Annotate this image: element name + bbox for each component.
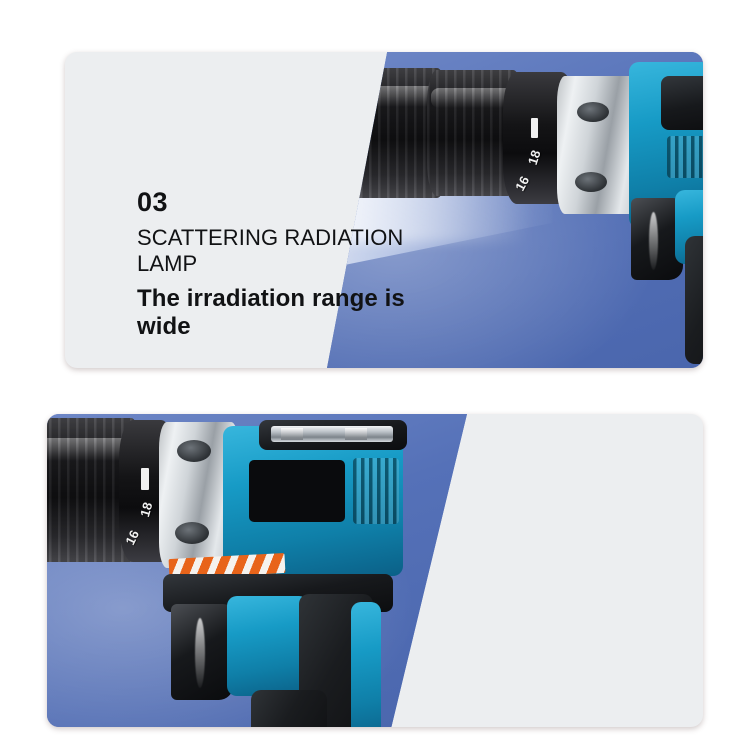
screwdriver-bit bbox=[271, 426, 393, 442]
drill-grip-lower bbox=[251, 690, 327, 727]
collar-number-18: 18 bbox=[137, 500, 155, 518]
panel-03-subtitle: The irradiation range is wide bbox=[137, 285, 437, 341]
housing-vent-upper bbox=[177, 440, 211, 462]
trigger-highlight bbox=[195, 618, 205, 688]
collar-tick-mark bbox=[141, 468, 149, 490]
panel-03-number: 03 bbox=[137, 188, 437, 216]
drill-grip-teal-trim bbox=[351, 602, 381, 727]
bit-segment-left bbox=[281, 428, 303, 440]
feature-panel-03: 18 16 03 SCATTERING RADIATION LAMP The i… bbox=[65, 52, 703, 368]
drill-body-fins bbox=[353, 458, 399, 524]
drill-body-fins bbox=[667, 136, 703, 178]
drill-chuck bbox=[297, 68, 447, 198]
feature-panel-04: 18 16 bbox=[47, 414, 703, 727]
collar-number-16: 16 bbox=[512, 174, 532, 194]
chuck-highlight bbox=[303, 86, 441, 107]
trigger-highlight bbox=[649, 212, 658, 270]
drill-grip bbox=[685, 236, 703, 364]
collar-number-18: 18 bbox=[525, 148, 544, 166]
housing-vent-upper bbox=[577, 102, 609, 122]
drill-body-display-panel bbox=[249, 460, 345, 522]
housing-vent-lower bbox=[175, 522, 209, 544]
collar-number-16: 16 bbox=[122, 528, 142, 548]
housing-vent-lower bbox=[575, 172, 607, 192]
drill-neck-teal bbox=[227, 596, 309, 696]
drill-illustration: 18 16 bbox=[47, 414, 483, 727]
product-photo-04: 18 16 bbox=[47, 414, 467, 727]
bit-segment-right bbox=[345, 428, 367, 440]
panel-03-text-block: 03 SCATTERING RADIATION LAMP The irradia… bbox=[137, 188, 437, 341]
drill-body-dark-panel bbox=[661, 76, 703, 130]
panel-03-heading: SCATTERING RADIATION LAMP bbox=[137, 225, 437, 276]
collar-tick-mark bbox=[531, 118, 538, 138]
